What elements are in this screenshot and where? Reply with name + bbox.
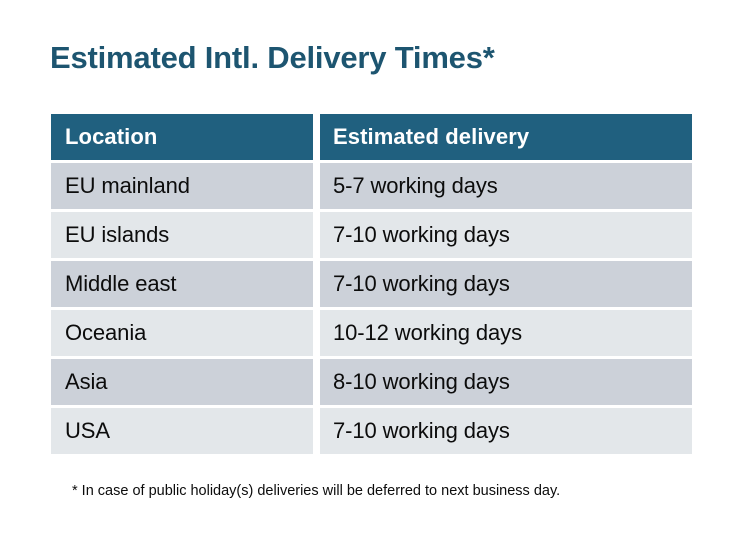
table-header-row: Location Estimated delivery xyxy=(51,114,692,160)
cell-location: USA xyxy=(51,408,313,454)
cell-estimated-delivery-value: 7-10 working days xyxy=(333,222,510,248)
cell-estimated-delivery-value: 7-10 working days xyxy=(333,418,510,444)
cell-estimated-delivery-value: 10-12 working days xyxy=(333,320,522,346)
cell-estimated-delivery-value: 8-10 working days xyxy=(333,369,510,395)
table-row: Asia 8-10 working days xyxy=(51,359,692,405)
column-header-location-label: Location xyxy=(65,124,157,150)
table-row: Oceania 10-12 working days xyxy=(51,310,692,356)
cell-location: Middle east xyxy=(51,261,313,307)
column-divider xyxy=(313,408,320,454)
column-header-location: Location xyxy=(51,114,313,160)
column-divider xyxy=(313,114,320,160)
cell-estimated-delivery: 10-12 working days xyxy=(320,310,692,356)
footnote: * In case of public holiday(s) deliverie… xyxy=(72,481,560,501)
cell-estimated-delivery: 7-10 working days xyxy=(320,261,692,307)
cell-location-value: EU mainland xyxy=(65,173,190,199)
cell-location-value: Middle east xyxy=(65,271,176,297)
page-title: Estimated Intl. Delivery Times* xyxy=(50,38,495,78)
cell-location-value: USA xyxy=(65,418,110,444)
cell-estimated-delivery-value: 7-10 working days xyxy=(333,271,510,297)
column-header-estimated-delivery: Estimated delivery xyxy=(320,114,692,160)
delivery-times-table: Location Estimated delivery EU mainland … xyxy=(51,114,692,457)
table-row: EU mainland 5-7 working days xyxy=(51,163,692,209)
column-divider xyxy=(313,359,320,405)
cell-location: EU islands xyxy=(51,212,313,258)
cell-estimated-delivery: 5-7 working days xyxy=(320,163,692,209)
cell-location: Asia xyxy=(51,359,313,405)
cell-location-value: EU islands xyxy=(65,222,169,248)
delivery-times-page: Estimated Intl. Delivery Times* Location… xyxy=(0,0,745,536)
column-divider xyxy=(313,212,320,258)
cell-location: EU mainland xyxy=(51,163,313,209)
cell-estimated-delivery: 8-10 working days xyxy=(320,359,692,405)
cell-estimated-delivery: 7-10 working days xyxy=(320,212,692,258)
table-row: USA 7-10 working days xyxy=(51,408,692,454)
column-header-estimated-delivery-label: Estimated delivery xyxy=(333,124,529,150)
table-row: Middle east 7-10 working days xyxy=(51,261,692,307)
column-divider xyxy=(313,261,320,307)
cell-estimated-delivery-value: 5-7 working days xyxy=(333,173,498,199)
table-row: EU islands 7-10 working days xyxy=(51,212,692,258)
cell-location: Oceania xyxy=(51,310,313,356)
cell-location-value: Oceania xyxy=(65,320,146,346)
column-divider xyxy=(313,310,320,356)
cell-location-value: Asia xyxy=(65,369,107,395)
column-divider xyxy=(313,163,320,209)
cell-estimated-delivery: 7-10 working days xyxy=(320,408,692,454)
